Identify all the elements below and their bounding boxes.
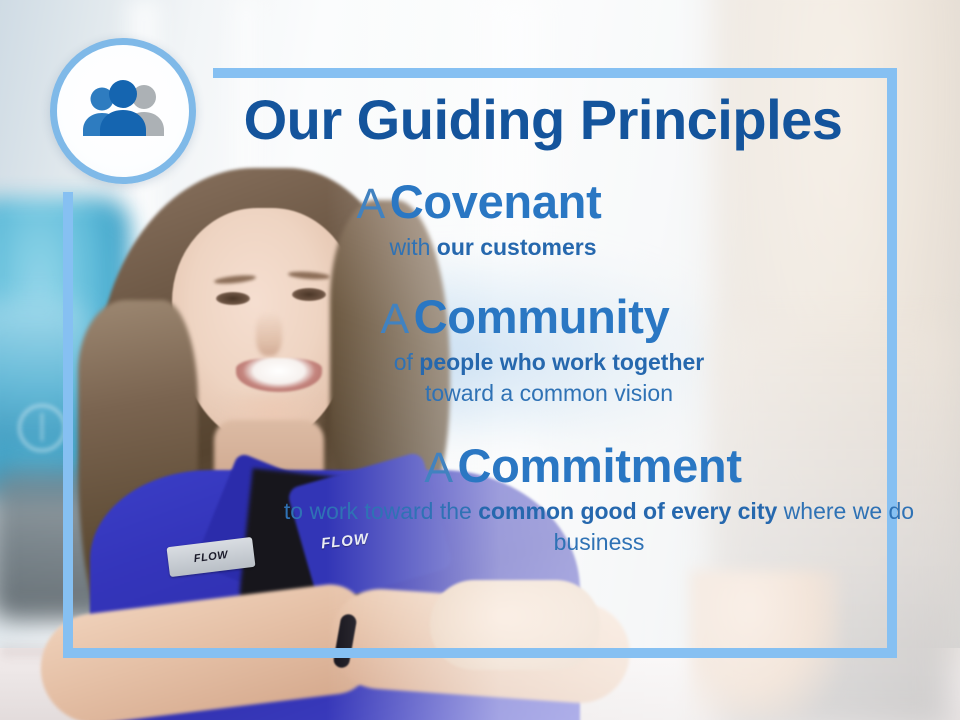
principle-heading: A Community (184, 293, 866, 341)
principle-article: A (424, 444, 453, 492)
principle-subtext: with our customers (152, 232, 834, 262)
principle-keyword: Community (414, 290, 670, 343)
frame-border-bottom (63, 648, 897, 658)
principles-list: A Covenant with our customers A Communit… (200, 178, 882, 579)
principle-item: A Commitment to work toward the common g… (200, 442, 882, 557)
principle-subtext: to work toward the common good of every … (258, 496, 940, 557)
principle-article: A (381, 295, 410, 343)
principle-keyword: Covenant (390, 175, 602, 228)
blurred-dealer-logo (18, 404, 66, 452)
principle-keyword: Commitment (457, 439, 741, 492)
principle-heading: A Covenant (138, 178, 820, 226)
people-group-icon (75, 79, 171, 143)
principle-heading: A Commitment (242, 442, 924, 490)
frame-border-left (63, 192, 73, 658)
poster-root: FLOW FLOW (0, 0, 960, 720)
principle-item: A Covenant with our customers (200, 178, 882, 263)
blurred-customer-hand (690, 570, 840, 720)
page-title: Our Guiding Principles (213, 92, 873, 148)
principle-article: A (357, 180, 386, 228)
principle-item: A Community of people who work togethert… (200, 293, 882, 408)
principle-subtext: of people who work togethertoward a comm… (208, 347, 890, 408)
people-group-badge (50, 38, 196, 184)
frame-border-top (213, 68, 897, 78)
